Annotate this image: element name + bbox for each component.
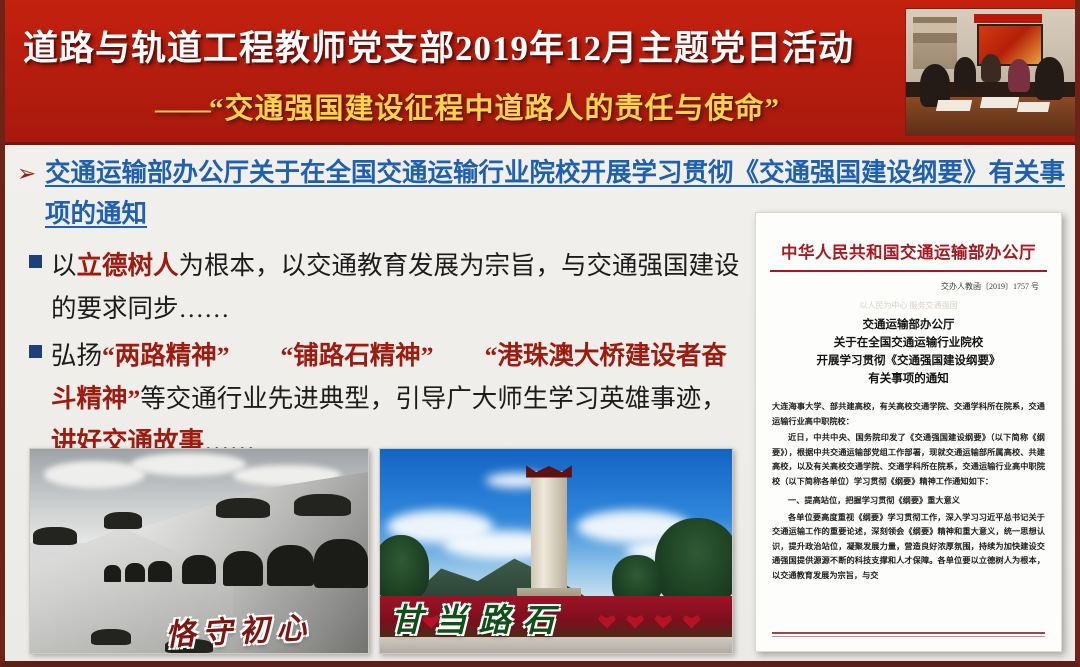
photo1-truck <box>223 551 264 586</box>
bullet2-pre: 弘扬 <box>51 341 102 370</box>
list-item: 以立德树人为根本，以交通教育发展为宗旨，与交通强国建设的要求同步…… <box>29 244 745 330</box>
square-bullet-icon <box>29 255 42 268</box>
document-body: 大连海事大学、部共建高校，有关高校交通学院、交通学科所在院系，交通运输行业高中职… <box>772 400 1045 583</box>
photo1-rock <box>104 512 141 528</box>
photo1-cloud <box>44 461 145 488</box>
photo-snow-mountain-convoy: 恪守初心 <box>29 448 369 654</box>
presentation-slide: 道路与轨道工程教师党支部2019年12月主题党日活动 ——“交通强国建设征程中道… <box>0 0 1080 667</box>
document-organization: 中华人民共和国交通运输部办公厅 <box>764 239 1053 263</box>
bullet-list: 以立德树人为根本，以交通教育发展为宗旨，与交通强国建设的要求同步…… 弘扬“两路… <box>29 244 745 467</box>
meeting-room-photo <box>905 8 1077 136</box>
bullet2-quote-1: “两路精神” <box>102 341 230 370</box>
photo2-calligraphy: 甘当路石 <box>391 595 673 641</box>
photo1-rock <box>33 527 77 545</box>
photo-wall-banner <box>974 14 1042 23</box>
subtitle-text: “交通强国建设征程中道路人的责任与使命” <box>209 93 780 125</box>
square-bullet-icon <box>29 345 42 358</box>
bullet-text-2: 弘扬“两路精神” “铺路石精神” “港珠澳大桥建设者奋斗精神”等交通行业先进典型… <box>29 334 745 463</box>
photo1-truck <box>314 539 368 588</box>
photo-person <box>981 54 1001 82</box>
photo1-rock <box>216 498 270 518</box>
photo1-truck <box>267 545 314 586</box>
photo1-truck <box>125 563 145 581</box>
photo1-rock <box>294 494 351 516</box>
bullet1-highlight: 立德树人 <box>77 251 179 280</box>
bullet1-pre: 以 <box>51 251 77 280</box>
arrow-bullet-icon: ➢ <box>17 160 43 186</box>
document-section-heading: 一、提高站位，把握学习贯彻《纲要》重大意义 <box>772 494 1045 509</box>
photo-memorial-monument: 甘当路石 <box>379 448 733 654</box>
document-title-line-1: 交通运输部办公厅 <box>770 317 1047 334</box>
photo-bookshelf <box>913 17 957 70</box>
em-dash: —— <box>155 93 209 126</box>
bullet-text-1: 以立德树人为根本，以交通教育发展为宗旨，与交通强国建设的要求同步…… <box>29 244 745 330</box>
footer-rule-thick <box>772 632 1045 634</box>
document-title-line-3: 开展学习贯彻《交通强国建设纲要》 <box>770 353 1047 370</box>
slide-title: 道路与轨道工程教师党支部2019年12月主题党日活动 <box>23 20 903 71</box>
photo-person <box>1035 57 1064 100</box>
official-document-scan: 中华人民共和国交通运输部办公厅 交办人教函〔2019〕1757 号 以人民为中心… <box>755 212 1062 652</box>
photo-document <box>980 97 1020 108</box>
footer-rule-thin <box>772 636 1045 637</box>
slide-header-banner: 道路与轨道工程教师党支部2019年12月主题党日活动 ——“交通强国建设征程中道… <box>5 0 1080 145</box>
photo-document <box>935 100 971 111</box>
photo2-tree <box>379 535 429 600</box>
document-title-line-4: 有关事项的通知 <box>770 371 1047 388</box>
photo2-tree <box>655 518 733 604</box>
photo1-truck <box>148 561 172 581</box>
bullet2-quote-2: “铺路石精神” <box>281 341 434 370</box>
document-paragraph-1: 近日，中共中央、国务院印发了《交通强国建设纲要》（以下简称《纲要》），根据中共交… <box>772 431 1045 489</box>
document-recipients: 大连海事大学、部共建高校，有关高校交通学院、交通学科所在院系，交通运输行业高中职… <box>772 402 1045 426</box>
photo-person <box>954 57 976 90</box>
bullet2-mid: 等交通行业先进典型，引导广大师生学习英雄事迹， <box>140 384 727 413</box>
document-red-rule <box>770 270 1047 272</box>
photo1-truck <box>104 565 121 581</box>
photo1-cloud <box>131 453 246 475</box>
photo-person <box>1008 59 1030 92</box>
document-paragraph-2: 各单位要高度重视《纲要》学习贯彻工作，深入学习习近平总书记关于交通运输工作的重要… <box>772 511 1045 584</box>
bullet2-gap-1 <box>230 341 281 370</box>
bullet2-gap-2 <box>434 341 485 370</box>
document-footer-rule <box>772 632 1045 637</box>
list-item: 弘扬“两路精神” “铺路石精神” “港珠澳大桥建设者奋斗精神”等交通行业先进典型… <box>29 334 745 463</box>
photo1-truck <box>182 555 216 584</box>
document-watermark-line: 以人民为中心 服务交通强国 <box>770 300 1047 311</box>
document-number: 交办人教函〔2019〕1757 号 <box>778 281 1039 292</box>
document-title-line-2: 关于在全国交通运输行业院校 <box>770 335 1047 352</box>
photo2-monument <box>531 471 566 600</box>
photo-document <box>1017 102 1050 112</box>
slide-subtitle: ——“交通强国建设征程中道路人的责任与使命” <box>155 85 915 127</box>
photo1-foreground-rock <box>91 629 132 645</box>
